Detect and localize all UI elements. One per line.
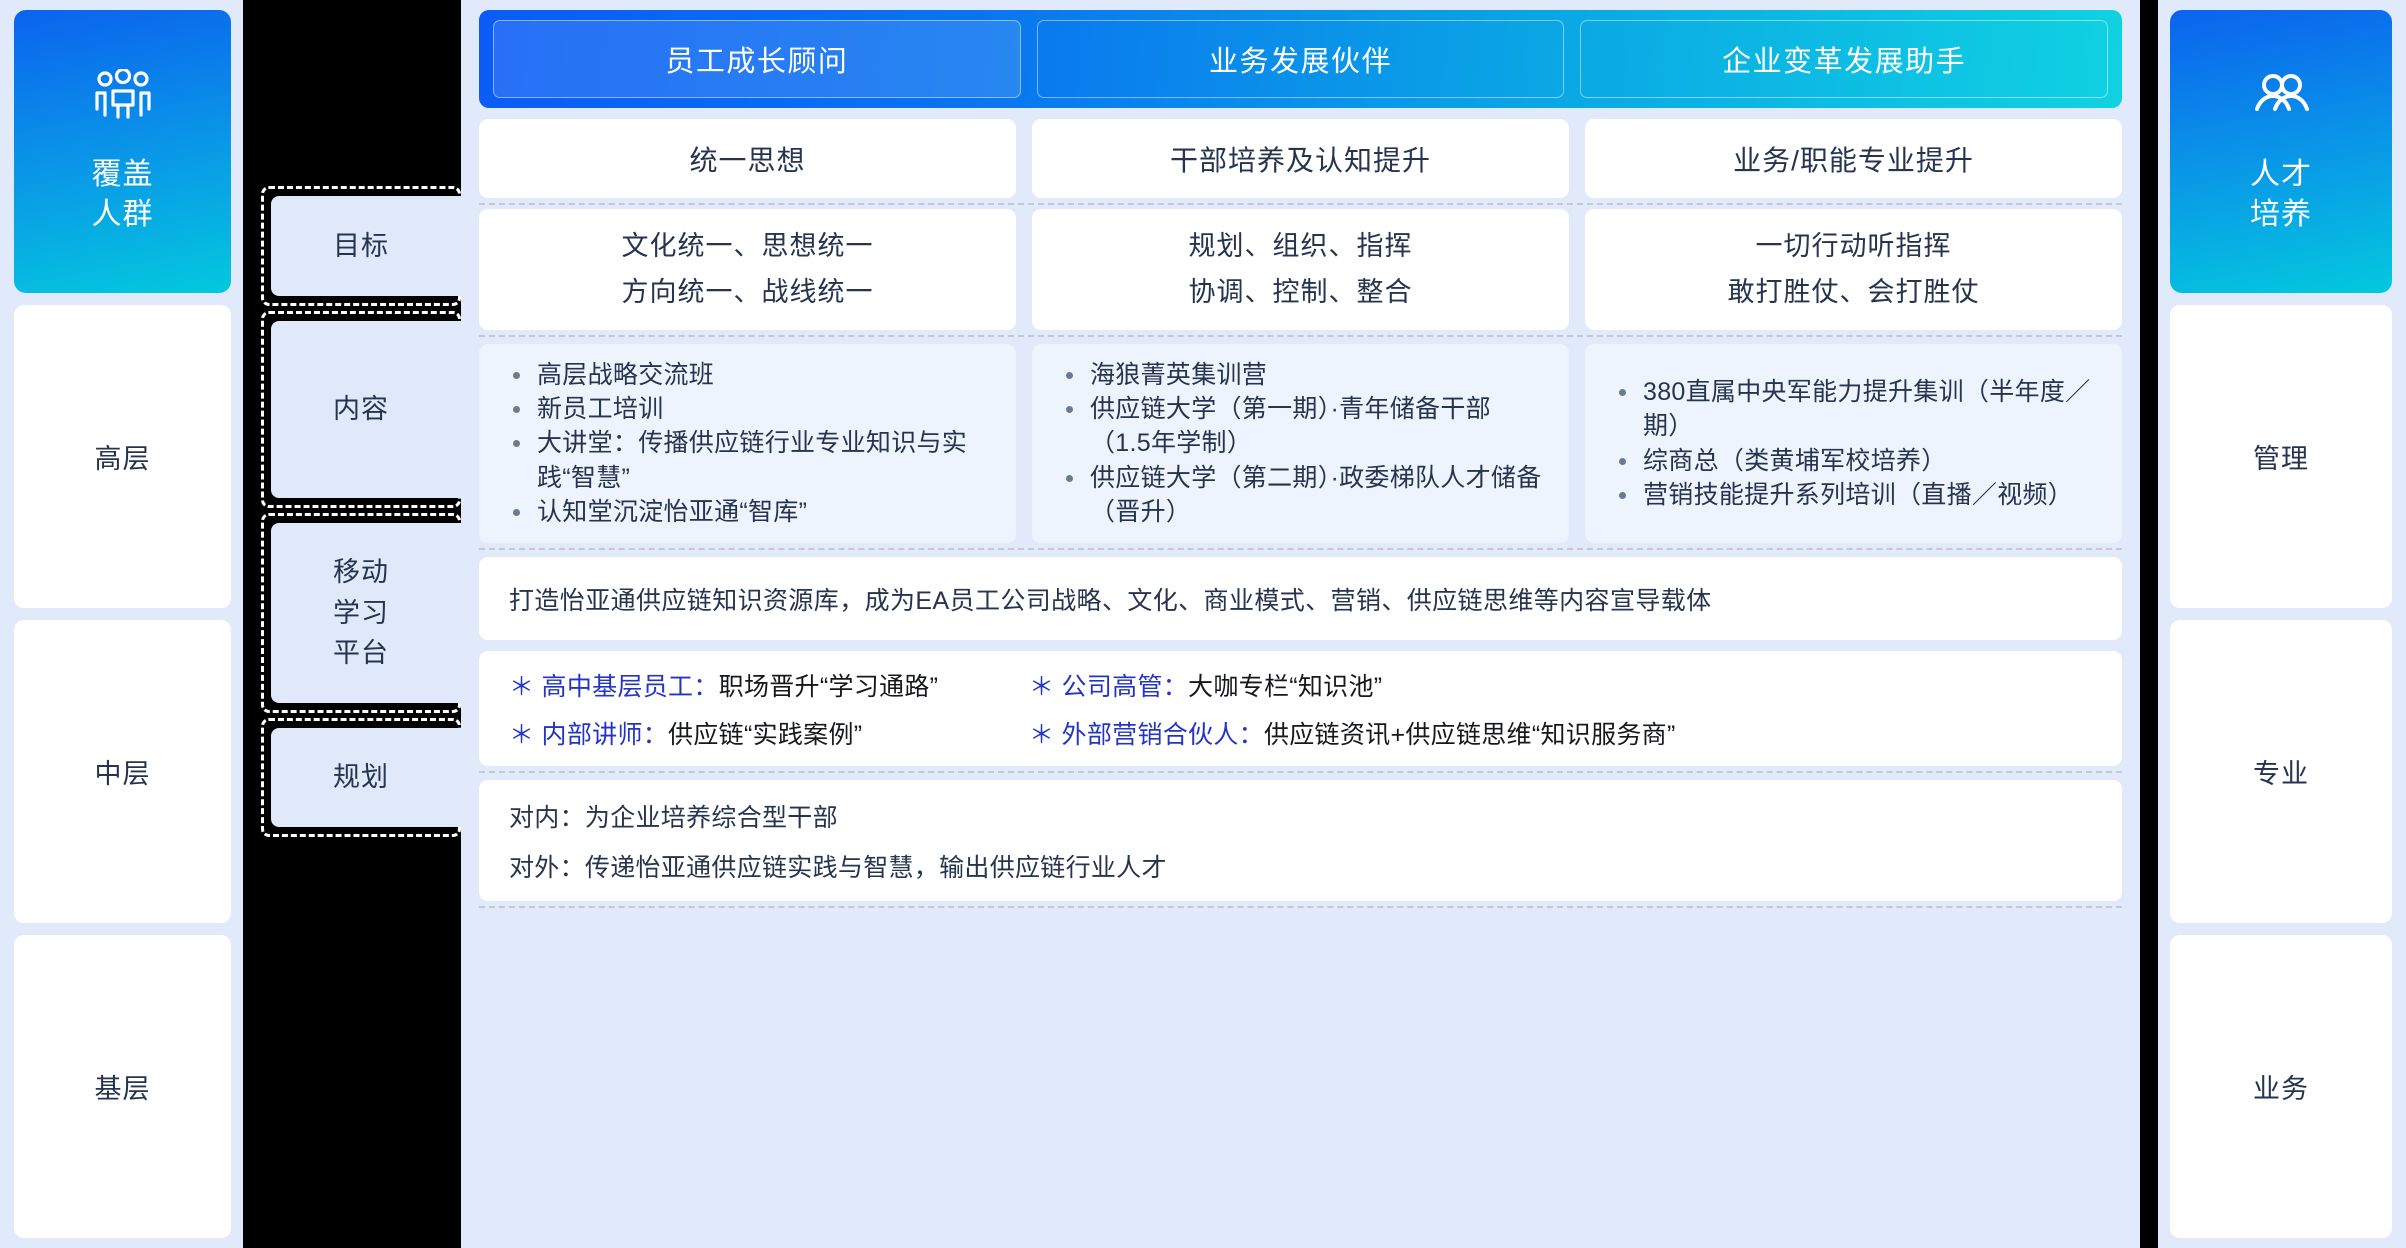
goal-card-3: 一切行动听指挥 敢打胜仗、会打胜仗 xyxy=(1585,209,2122,330)
library-row: 打造怡亚通供应链知识资源库，成为EA员工公司战略、文化、商业模式、营销、供应链思… xyxy=(479,557,2122,640)
tab-label: 企业变革发展助手 xyxy=(1722,38,1966,80)
talent-title: 人才 培养 xyxy=(2250,155,2312,234)
plan-row: 对内：为企业培养综合型干部 对外：传递怡亚通供应链实践与智慧，输出供应链行业人才 xyxy=(479,780,2122,901)
right-sidebar: 人才 培养 管理 专业 业务 xyxy=(2158,0,2406,1248)
list-item: 供应链大学（第一期）·青年储备干部（1.5年学制） xyxy=(1062,392,1549,461)
knowledge-library-text: 打造怡亚通供应链知识资源库，成为EA员工公司战略、文化、商业模式、营销、供应链思… xyxy=(509,581,1712,617)
audience-key: ＊ 高中基层员工： xyxy=(509,673,719,701)
sidebar-item-label: 基层 xyxy=(95,1067,151,1106)
goal-row: 文化统一、思想统一 方向统一、战线统一 规划、组织、指挥 协调、控制、整合 一切… xyxy=(479,209,2122,330)
theme-label: 统一思想 xyxy=(689,139,805,179)
stage-list: 目标 内容 移动 学习 平台 规划 xyxy=(261,186,461,1230)
content-list: 380直属中央军能力提升集训（半年度／期） 综商总（类黄埔军校培养） 营销技能提… xyxy=(1615,375,2102,512)
tab-enterprise-change-assistant[interactable]: 企业变革发展助手 xyxy=(1580,20,2108,98)
knowledge-library-banner: 打造怡亚通供应链知识资源库，成为EA员工公司战略、文化、商业模式、营销、供应链思… xyxy=(479,557,2122,640)
sidebar-item-middle[interactable]: 中层 xyxy=(14,620,231,923)
coverage-header-card: 覆盖 人群 xyxy=(14,10,231,293)
goal-line: 方向统一、战线统一 xyxy=(622,275,874,310)
sidebar-item-label: 业务 xyxy=(2253,1067,2309,1106)
goal-line: 规划、组织、指挥 xyxy=(1189,229,1413,264)
list-item: 海狼菁英集训营 xyxy=(1062,358,1549,392)
stage-label: 移动 学习 平台 xyxy=(333,552,389,674)
list-item: 380直属中央军能力提升集训（半年度／期） xyxy=(1615,375,2102,444)
audience-value: 大咖专栏“知识池” xyxy=(1188,673,1382,701)
row-separator xyxy=(479,335,2122,337)
stage-label: 目标 xyxy=(333,226,389,267)
people-group-icon xyxy=(91,69,155,121)
sidebar-item-junior[interactable]: 基层 xyxy=(14,935,231,1238)
left-sidebar: 覆盖 人群 高层 中层 基层 xyxy=(0,0,243,1248)
stage-plan[interactable]: 规划 xyxy=(261,718,461,837)
theme-label: 业务/职能专业提升 xyxy=(1733,139,1974,179)
audience-row: ＊ 高中基层员工：职场晋升“学习通路” ＊ 公司高管：大咖专栏“知识池” ＊ 内… xyxy=(479,651,2122,766)
sidebar-item-label: 高层 xyxy=(95,437,151,476)
right-black-edge xyxy=(2140,0,2158,1248)
goal-line: 文化统一、思想统一 xyxy=(622,229,874,264)
tab-label: 员工成长顾问 xyxy=(665,38,848,80)
plan-card: 对内：为企业培养综合型干部 对外：传递怡亚通供应链实践与智慧，输出供应链行业人才 xyxy=(479,780,2122,901)
list-item: 营销技能提升系列培训（直播／视频） xyxy=(1615,478,2102,512)
goal-line: 敢打胜仗、会打胜仗 xyxy=(1728,275,1980,310)
role-tabs: 员工成长顾问 业务发展伙伴 企业变革发展助手 xyxy=(479,10,2122,108)
goal-card-2: 规划、组织、指挥 协调、控制、整合 xyxy=(1032,209,1569,330)
coverage-title: 覆盖 人群 xyxy=(92,155,154,234)
infographic-page: 覆盖 人群 高层 中层 基层 目标 内容 移动 学习 平台 xyxy=(0,0,2406,1248)
coverage-title-line2: 人群 xyxy=(92,195,154,235)
stage-goal[interactable]: 目标 xyxy=(261,186,461,306)
goal-card-1: 文化统一、思想统一 方向统一、战线统一 xyxy=(479,209,1016,330)
plan-internal-line: 对内：为企业培养综合型干部 xyxy=(509,798,838,834)
row-separator xyxy=(479,548,2122,550)
list-item: 认知堂沉淀怡亚通“智库” xyxy=(509,495,996,529)
sidebar-item-label: 中层 xyxy=(95,752,151,791)
stage-label: 内容 xyxy=(333,389,389,430)
audience-line-2: ＊ 内部讲师：供应链“实践案例” ＊ 外部营销合伙人：供应链资讯+供应链思维“知… xyxy=(509,715,2096,751)
list-item: 供应链大学（第二期）·政委梯队人才储备（晋升） xyxy=(1062,461,1549,530)
audience-entry: ＊ 公司高管：大咖专栏“知识池” xyxy=(1029,667,1382,703)
main-panel: 员工成长顾问 业务发展伙伴 企业变革发展助手 统一思想 干部培养及认知提升 业务… xyxy=(461,0,2140,1248)
sidebar-item-professional[interactable]: 专业 xyxy=(2170,620,2392,923)
stage-column: 目标 内容 移动 学习 平台 规划 xyxy=(243,0,461,1248)
sidebar-item-label: 管理 xyxy=(2253,437,2309,476)
content-list: 高层战略交流班 新员工培训 大讲堂：传播供应链行业专业知识与实践“智慧” 认知堂… xyxy=(509,358,996,529)
theme-card-unified-thinking[interactable]: 统一思想 xyxy=(479,119,1016,198)
audience-value: 供应链“实践案例” xyxy=(668,721,862,749)
tab-employee-growth-advisor[interactable]: 员工成长顾问 xyxy=(493,20,1021,98)
row-separator-bottom xyxy=(479,906,2122,908)
stage-content[interactable]: 内容 xyxy=(261,311,461,508)
stage-mobile-platform[interactable]: 移动 学习 平台 xyxy=(261,513,461,713)
audience-entry: ＊ 内部讲师：供应链“实践案例” xyxy=(509,715,1029,751)
list-item: 高层战略交流班 xyxy=(509,358,996,392)
audience-key: ＊ 内部讲师： xyxy=(509,721,668,749)
audience-key: ＊ 外部营销合伙人： xyxy=(1029,721,1264,749)
content-card-1: 高层战略交流班 新员工培训 大讲堂：传播供应链行业专业知识与实践“智慧” 认知堂… xyxy=(479,344,1016,543)
goal-line: 一切行动听指挥 xyxy=(1756,229,1952,264)
talent-header-card: 人才 培养 xyxy=(2170,10,2392,293)
row-separator xyxy=(479,203,2122,205)
list-item: 综商总（类黄埔军校培养） xyxy=(1615,444,2102,478)
stage-label: 规划 xyxy=(333,757,389,798)
sidebar-item-senior[interactable]: 高层 xyxy=(14,305,231,608)
content-list: 海狼菁英集训营 供应链大学（第一期）·青年储备干部（1.5年学制） 供应链大学（… xyxy=(1062,358,1549,529)
audience-line-1: ＊ 高中基层员工：职场晋升“学习通路” ＊ 公司高管：大咖专栏“知识池” xyxy=(509,667,2096,703)
audience-entry: ＊ 外部营销合伙人：供应链资讯+供应链思维“知识服务商” xyxy=(1029,715,1676,751)
audience-value: 供应链资讯+供应链思维“知识服务商” xyxy=(1264,721,1676,749)
goal-line: 协调、控制、整合 xyxy=(1189,275,1413,310)
talent-title-line1: 人才 xyxy=(2250,155,2312,195)
sidebar-item-business[interactable]: 业务 xyxy=(2170,935,2392,1238)
audience-key: ＊ 公司高管： xyxy=(1029,673,1188,701)
coverage-title-line1: 覆盖 xyxy=(92,155,154,195)
sidebar-item-management[interactable]: 管理 xyxy=(2170,305,2392,608)
theme-card-cadre-development[interactable]: 干部培养及认知提升 xyxy=(1032,119,1569,198)
theme-label: 干部培养及认知提升 xyxy=(1170,139,1431,179)
audience-entry: ＊ 高中基层员工：职场晋升“学习通路” xyxy=(509,667,1029,703)
talent-group-icon xyxy=(2249,69,2313,121)
list-item: 新员工培训 xyxy=(509,392,996,426)
content-card-2: 海狼菁英集训营 供应链大学（第一期）·青年储备干部（1.5年学制） 供应链大学（… xyxy=(1032,344,1569,543)
content-row: 高层战略交流班 新员工培训 大讲堂：传播供应链行业专业知识与实践“智慧” 认知堂… xyxy=(479,344,2122,543)
tab-business-development-partner[interactable]: 业务发展伙伴 xyxy=(1037,20,1565,98)
talent-title-line2: 培养 xyxy=(2250,195,2312,235)
sidebar-item-label: 专业 xyxy=(2253,752,2309,791)
theme-card-professional-upgrade[interactable]: 业务/职能专业提升 xyxy=(1585,119,2122,198)
audience-value: 职场晋升“学习通路” xyxy=(719,673,939,701)
theme-row: 统一思想 干部培养及认知提升 业务/职能专业提升 xyxy=(479,119,2122,198)
audience-card: ＊ 高中基层员工：职场晋升“学习通路” ＊ 公司高管：大咖专栏“知识池” ＊ 内… xyxy=(479,651,2122,766)
tab-label: 业务发展伙伴 xyxy=(1209,38,1392,80)
content-card-3: 380直属中央军能力提升集训（半年度／期） 综商总（类黄埔军校培养） 营销技能提… xyxy=(1585,344,2122,543)
row-separator xyxy=(479,771,2122,773)
list-item: 大讲堂：传播供应链行业专业知识与实践“智慧” xyxy=(509,426,996,495)
plan-external-line: 对外：传递怡亚通供应链实践与智慧，输出供应链行业人才 xyxy=(509,848,1167,884)
